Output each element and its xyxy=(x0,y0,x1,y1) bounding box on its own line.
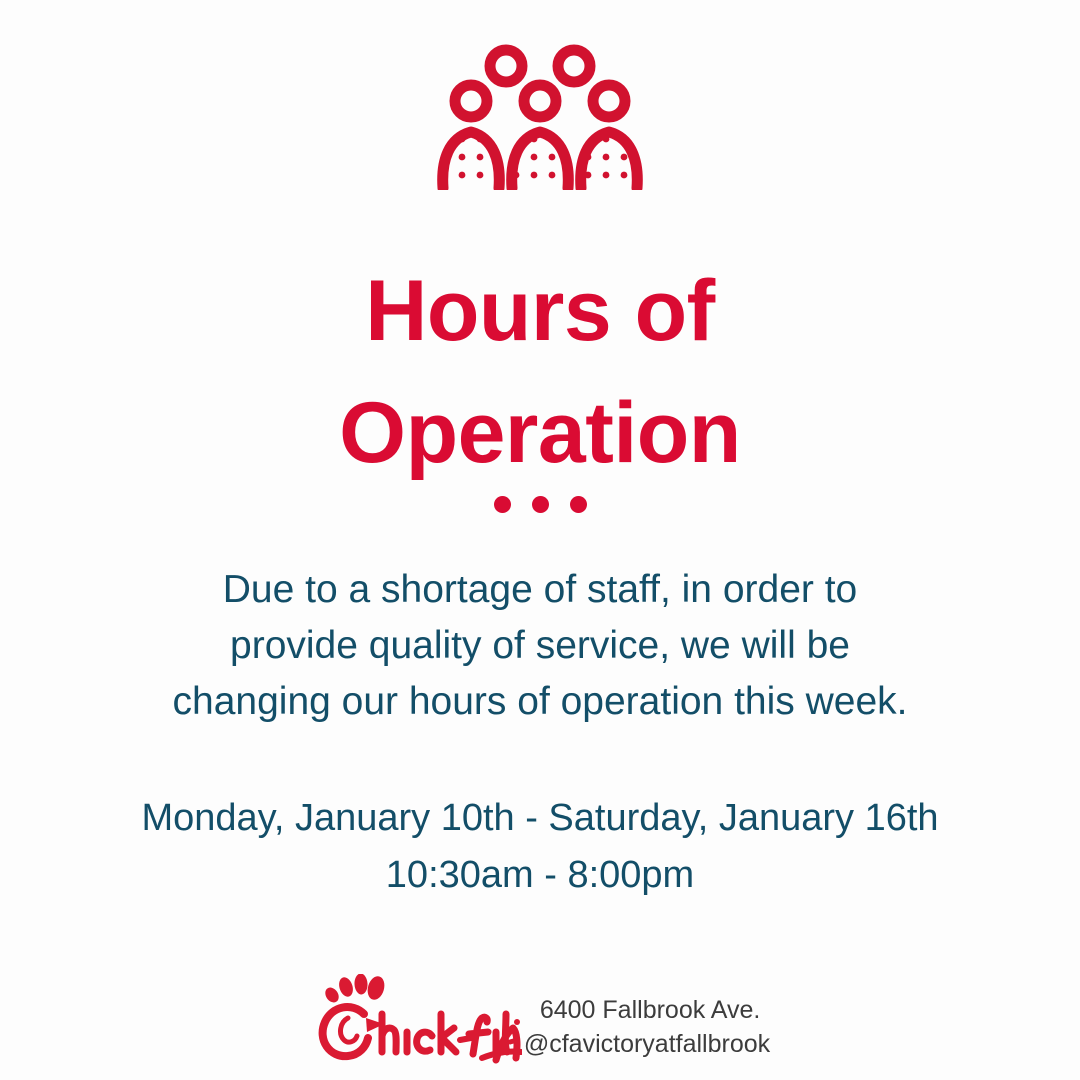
hours-of-operation-poster: Hours of Operation Due to a shortage of … xyxy=(0,0,1080,1080)
announcement-line-3: changing our hours of operation this wee… xyxy=(0,674,1080,730)
three-dot-divider xyxy=(0,496,1080,513)
divider-dot-3 xyxy=(570,496,587,513)
group-of-people-icon xyxy=(435,40,645,190)
divider-dot-1 xyxy=(494,496,511,513)
footer-contact: 6400 Fallbrook Ave. @cfavictoryatfallbro… xyxy=(524,979,770,1061)
footer: 6400 Fallbrook Ave. @cfavictoryatfallbro… xyxy=(0,967,1080,1072)
announcement-line-2: provide quality of service, we will be xyxy=(0,618,1080,674)
divider-dot-2 xyxy=(532,496,549,513)
announcement-body: Due to a shortage of staff, in order to … xyxy=(0,562,1080,730)
chick-fil-a-logo xyxy=(310,974,522,1066)
announcement-line-1: Due to a shortage of staff, in order to xyxy=(0,562,1080,618)
footer-social-handle[interactable]: @cfavictoryatfallbrook xyxy=(524,1027,770,1061)
schedule-hours: 10:30am - 8:00pm xyxy=(0,847,1080,904)
page-title-line-1: Hours of xyxy=(0,250,1080,372)
schedule-date-range: Monday, January 10th - Saturday, January… xyxy=(0,790,1080,847)
page-title: Hours of Operation xyxy=(0,250,1080,494)
page-title-line-2: Operation xyxy=(0,372,1080,494)
schedule-block: Monday, January 10th - Saturday, January… xyxy=(0,790,1080,904)
footer-address: 6400 Fallbrook Ave. xyxy=(524,993,770,1027)
